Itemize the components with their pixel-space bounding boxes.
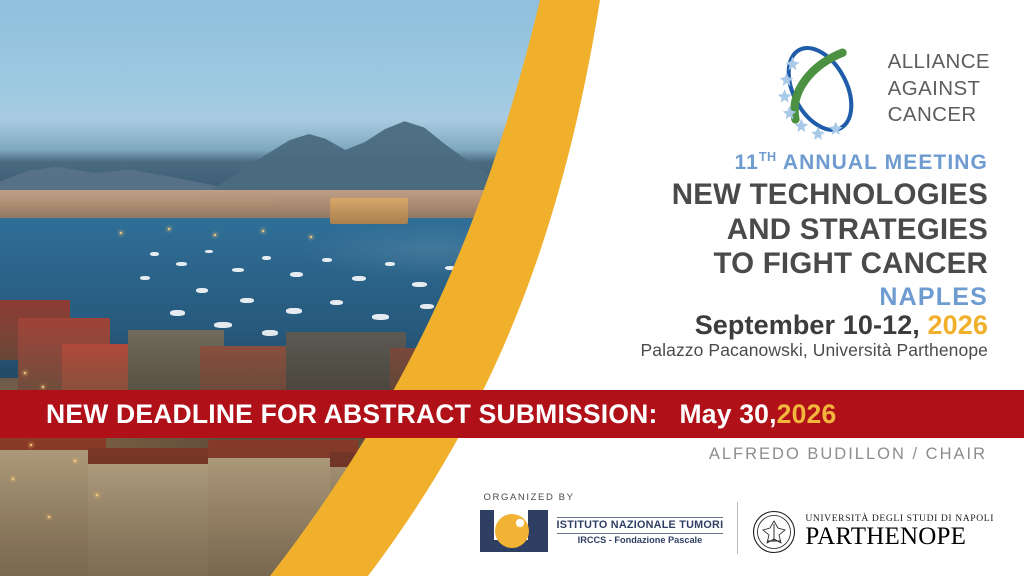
alliance-against-cancer-logo: ALLIANCE AGAINST CANCER: [680, 33, 990, 145]
boat: [232, 268, 244, 272]
parthenope-main-line: PARTHENOPE: [805, 524, 994, 550]
boat: [205, 250, 213, 253]
light-dot: [310, 236, 312, 238]
universita-parthenope-logo: UNIVERSITÀ DEGLI STUDI DI NAPOLI PARTHEN…: [752, 510, 994, 554]
sponsor-logos: ORGANIZED BY ISTITUTO NAZIONALE TUMORI I…: [478, 492, 994, 554]
boat: [214, 322, 232, 328]
int-name: ISTITUTO NAZIONALE TUMORI: [557, 517, 724, 534]
castel-dell-ovo: [330, 198, 408, 224]
boat: [150, 252, 159, 256]
title-line-2: AND STRATEGIES: [558, 213, 988, 248]
boat: [170, 310, 185, 316]
deadline-label: NEW DEADLINE FOR ABSTRACT SUBMISSION:: [46, 399, 658, 430]
naples-photo: [0, 0, 620, 576]
boat: [385, 262, 395, 266]
deadline-banner: NEW DEADLINE FOR ABSTRACT SUBMISSION: Ma…: [0, 390, 1024, 438]
light-dot: [24, 372, 26, 374]
boat: [420, 304, 434, 309]
event-date: September 10-12, 2026: [538, 310, 988, 341]
boat: [290, 272, 303, 277]
edition-ordinal: TH: [759, 150, 777, 164]
logo-divider: [737, 502, 738, 554]
light-dot: [120, 232, 122, 234]
edition-number: 11: [734, 151, 758, 174]
title-line-1: NEW TECHNOLOGIES: [558, 178, 988, 213]
boat: [412, 282, 427, 287]
organizer-block: ORGANIZED BY ISTITUTO NAZIONALE TUMORI I…: [478, 492, 724, 554]
light-dot: [30, 444, 32, 446]
int-wordmark: ISTITUTO NAZIONALE TUMORI IRCCS - Fondaz…: [557, 517, 724, 546]
aac-line-2: AGAINST: [888, 76, 990, 103]
organized-by-label: ORGANIZED BY: [478, 492, 724, 503]
event-chair: ALFREDO BUDILLON / CHAIR: [557, 445, 987, 464]
conference-poster: ALLIANCE AGAINST CANCER 11TH ANNUAL MEET…: [0, 0, 1024, 576]
int-emblem-icon: [478, 508, 550, 554]
deadline-date: May 30,2026: [680, 399, 837, 430]
istituto-nazionale-tumori-logo: ISTITUTO NAZIONALE TUMORI IRCCS - Fondaz…: [478, 508, 724, 554]
light-dot: [214, 234, 216, 236]
deadline-date-main: May 30,: [680, 399, 777, 429]
light-dot: [42, 386, 44, 388]
aac-wordmark: ALLIANCE AGAINST CANCER: [888, 49, 990, 129]
boat: [176, 262, 187, 266]
boat: [196, 288, 208, 293]
aac-line-1: ALLIANCE: [888, 49, 990, 76]
boat: [352, 276, 366, 281]
event-date-main: September 10-12,: [695, 310, 920, 340]
event-city: NAPLES: [558, 283, 988, 312]
aac-line-3: CANCER: [888, 102, 990, 129]
boat: [322, 258, 332, 262]
right-content-panel: ALLIANCE AGAINST CANCER 11TH ANNUAL MEET…: [554, 0, 1024, 576]
parthenope-seal-icon: [752, 510, 796, 554]
page-title: NEW TECHNOLOGIES AND STRATEGIES TO FIGHT…: [558, 178, 988, 282]
boat: [445, 266, 456, 270]
boat: [140, 276, 150, 280]
boat: [372, 314, 389, 320]
boat: [286, 308, 302, 314]
light-dot: [168, 228, 170, 230]
parthenope-wordmark: UNIVERSITÀ DEGLI STUDI DI NAPOLI PARTHEN…: [805, 514, 994, 551]
light-dot: [96, 494, 98, 496]
deadline-date-year: 2026: [777, 399, 837, 429]
boat: [240, 298, 254, 303]
edition-suffix: ANNUAL MEETING: [783, 151, 988, 174]
boat: [262, 256, 271, 260]
light-dot: [48, 516, 50, 518]
annual-meeting-label: 11TH ANNUAL MEETING: [568, 150, 988, 175]
boat: [330, 300, 343, 305]
int-subtitle: IRCCS - Fondazione Pascale: [557, 534, 724, 546]
event-date-year: 2026: [928, 310, 988, 340]
aac-emblem-icon: [766, 35, 874, 143]
event-venue: Palazzo Pacanowski, Università Parthenop…: [518, 340, 988, 361]
light-dot: [74, 460, 76, 462]
light-dot: [262, 230, 264, 232]
title-line-3: TO FIGHT CANCER: [558, 247, 988, 282]
light-dot: [12, 478, 14, 480]
